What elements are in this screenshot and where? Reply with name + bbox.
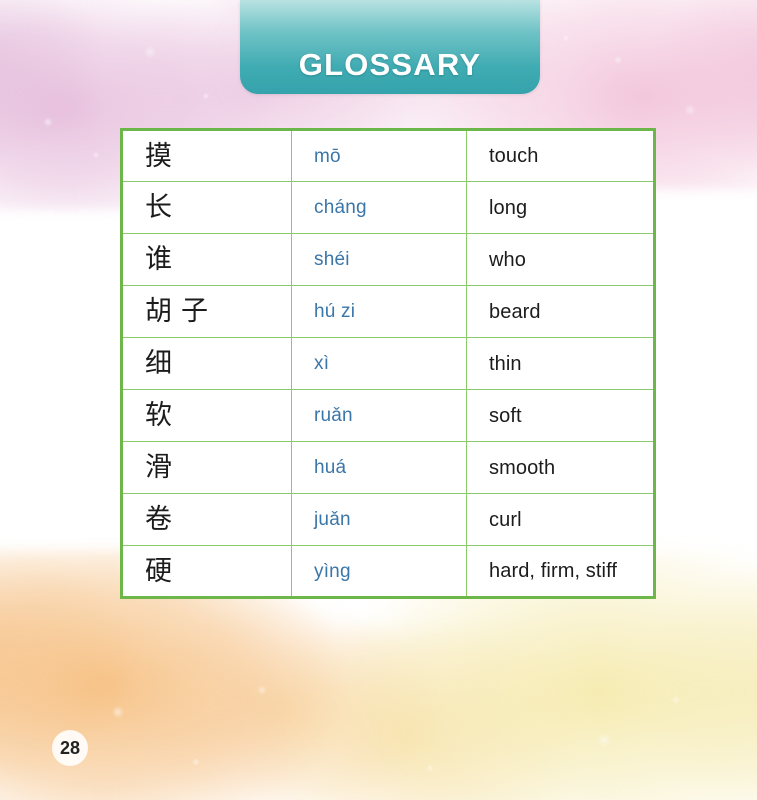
pinyin-text: hú zi [314,302,466,321]
cell-pinyin: juǎn [292,494,467,546]
cell-english: touch [467,130,655,182]
cell-pinyin: ruǎn [292,390,467,442]
english-text: long [489,198,653,218]
hanzi-text: 卷 [145,506,291,533]
cell-hanzi: 硬 [122,546,292,598]
english-text: beard [489,302,653,322]
cell-english: smooth [467,442,655,494]
hanzi-text: 软 [145,402,291,429]
cell-pinyin: huá [292,442,467,494]
cell-hanzi: 软 [122,390,292,442]
glossary-page: GLOSSARY 摸 mō touch 长 cháng long 谁 shéi … [0,0,757,800]
cell-pinyin: shéi [292,234,467,286]
hanzi-text: 细 [145,350,291,377]
cell-hanzi: 卷 [122,494,292,546]
cell-hanzi: 胡子 [122,286,292,338]
pinyin-text: ruǎn [314,406,466,425]
hanzi-text: 滑 [145,454,291,481]
pinyin-text: cháng [314,198,466,217]
cell-hanzi: 谁 [122,234,292,286]
table-row: 细 xì thin [122,338,655,390]
hanzi-text: 谁 [145,246,291,273]
cell-pinyin: xì [292,338,467,390]
pinyin-text: mō [314,147,466,166]
english-text: thin [489,354,653,374]
english-text: soft [489,406,653,426]
english-text: curl [489,510,653,530]
cell-english: hard, firm, stiff [467,546,655,598]
cell-pinyin: yìng [292,546,467,598]
pinyin-text: juǎn [314,510,466,529]
pinyin-text: huá [314,458,466,477]
cell-hanzi: 滑 [122,442,292,494]
cell-english: curl [467,494,655,546]
pinyin-text: yìng [314,562,466,581]
glossary-table: 摸 mō touch 长 cháng long 谁 shéi who 胡子 hú… [120,128,656,599]
table-row: 谁 shéi who [122,234,655,286]
table-row: 胡子 hú zi beard [122,286,655,338]
cell-english: thin [467,338,655,390]
page-title: GLOSSARY [299,49,481,80]
table-row: 卷 juǎn curl [122,494,655,546]
english-text: touch [489,146,653,166]
background-wash-bottom-middle [230,630,610,800]
english-text: who [489,250,653,270]
cell-pinyin: cháng [292,182,467,234]
pinyin-text: xì [314,354,466,373]
cell-english: who [467,234,655,286]
hanzi-text: 硬 [145,558,291,585]
pinyin-text: shéi [314,250,466,269]
cell-hanzi: 细 [122,338,292,390]
cell-pinyin: mō [292,130,467,182]
hanzi-text: 长 [145,194,291,221]
cell-english: long [467,182,655,234]
page-number-badge: 28 [52,730,88,766]
table-row: 摸 mō touch [122,130,655,182]
cell-hanzi: 摸 [122,130,292,182]
glossary-banner: GLOSSARY [240,0,540,94]
cell-english: beard [467,286,655,338]
cell-hanzi: 长 [122,182,292,234]
cell-pinyin: hú zi [292,286,467,338]
english-text: smooth [489,458,653,478]
table-row: 长 cháng long [122,182,655,234]
table-row: 硬 yìng hard, firm, stiff [122,546,655,598]
hanzi-text: 胡子 [145,298,291,325]
table-row: 软 ruǎn soft [122,390,655,442]
hanzi-text: 摸 [145,143,291,170]
english-text: hard, firm, stiff [489,561,653,581]
table-row: 滑 huá smooth [122,442,655,494]
cell-english: soft [467,390,655,442]
glossary-table-body: 摸 mō touch 长 cháng long 谁 shéi who 胡子 hú… [122,130,655,598]
